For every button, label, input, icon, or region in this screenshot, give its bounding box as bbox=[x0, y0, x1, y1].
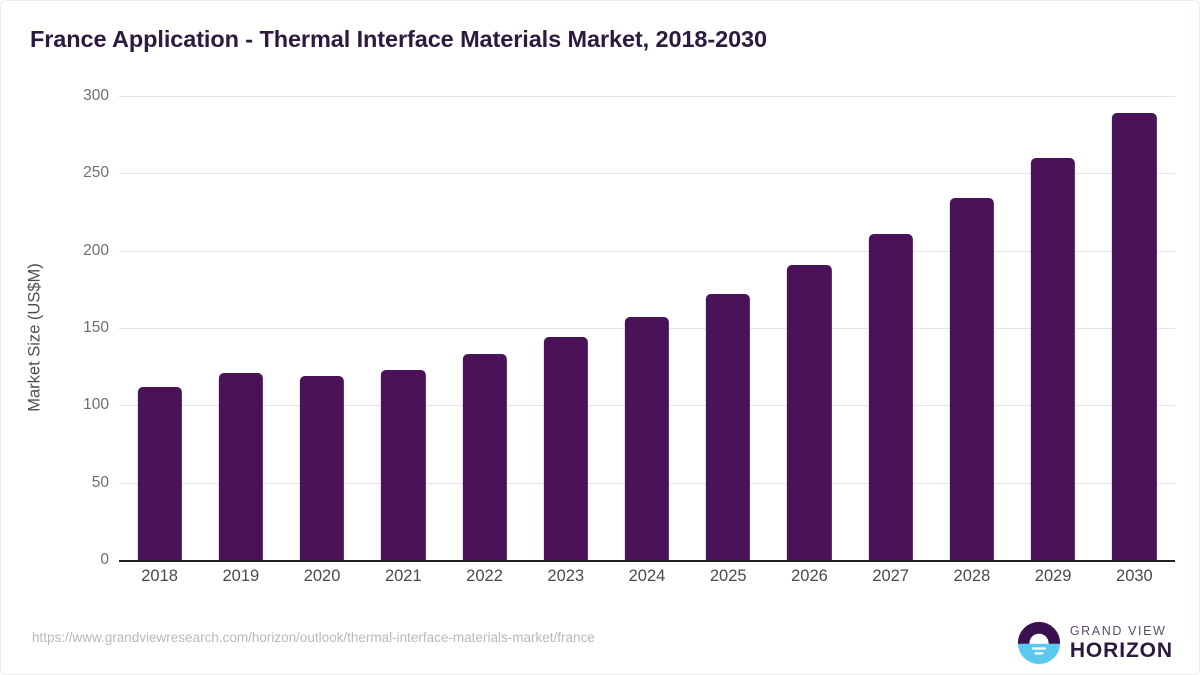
bar-slot bbox=[119, 96, 200, 560]
bar[interactable] bbox=[1031, 158, 1075, 560]
page-title: France Application - Thermal Interface M… bbox=[30, 26, 767, 53]
y-tick-label: 100 bbox=[83, 396, 109, 414]
chart-page: France Application - Thermal Interface M… bbox=[0, 0, 1200, 675]
bar[interactable] bbox=[544, 337, 588, 560]
bar-slot bbox=[525, 96, 606, 560]
axis-baseline bbox=[119, 560, 1175, 562]
bar[interactable] bbox=[787, 265, 831, 560]
y-tick-label: 150 bbox=[83, 319, 109, 337]
y-axis-title: Market Size (US$M) bbox=[26, 138, 45, 538]
bar-slot bbox=[1013, 96, 1094, 560]
x-tick-label: 2027 bbox=[850, 567, 931, 586]
x-tick-label: 2026 bbox=[769, 567, 850, 586]
bar-slot bbox=[1094, 96, 1175, 560]
x-tick-label: 2024 bbox=[606, 567, 687, 586]
x-tick-label: 2025 bbox=[688, 567, 769, 586]
y-tick-label: 200 bbox=[83, 242, 109, 260]
bar[interactable] bbox=[706, 294, 750, 560]
bar-slot bbox=[606, 96, 687, 560]
x-tick-label: 2018 bbox=[119, 567, 200, 586]
bar[interactable] bbox=[869, 234, 913, 560]
x-tick-label: 2028 bbox=[931, 567, 1012, 586]
y-tick-label: 50 bbox=[92, 474, 109, 492]
y-tick-label: 0 bbox=[100, 551, 109, 569]
bar[interactable] bbox=[300, 376, 344, 560]
brand-name-line2: HORIZON bbox=[1070, 640, 1173, 661]
brand-name-line1: GRAND VIEW bbox=[1070, 625, 1173, 638]
bar-slot bbox=[850, 96, 931, 560]
bar[interactable] bbox=[381, 370, 425, 560]
bar-slot bbox=[688, 96, 769, 560]
x-tick-label: 2023 bbox=[525, 567, 606, 586]
x-axis-tick-labels: 2018201920202021202220232024202520262027… bbox=[119, 567, 1175, 595]
bar-slot bbox=[769, 96, 850, 560]
bar-slot bbox=[931, 96, 1012, 560]
source-url[interactable]: https://www.grandviewresearch.com/horizo… bbox=[32, 630, 595, 645]
x-tick-label: 2030 bbox=[1094, 567, 1175, 586]
bar[interactable] bbox=[219, 373, 263, 560]
y-tick-label: 250 bbox=[83, 164, 109, 182]
bar-slot bbox=[444, 96, 525, 560]
bar[interactable] bbox=[137, 387, 181, 560]
bar[interactable] bbox=[1112, 113, 1156, 560]
bar-slot bbox=[281, 96, 362, 560]
x-tick-label: 2029 bbox=[1013, 567, 1094, 586]
x-tick-label: 2019 bbox=[200, 567, 281, 586]
bar-slot bbox=[363, 96, 444, 560]
x-tick-label: 2021 bbox=[363, 567, 444, 586]
bar[interactable] bbox=[625, 317, 669, 560]
y-axis-tick-labels: 050100150200250300 bbox=[61, 96, 109, 560]
horizon-sun-circle-icon bbox=[1017, 621, 1061, 665]
bar-series bbox=[119, 96, 1175, 560]
bar[interactable] bbox=[950, 198, 994, 560]
x-tick-label: 2020 bbox=[281, 567, 362, 586]
bar-slot bbox=[200, 96, 281, 560]
brand-logo: GRAND VIEW HORIZON bbox=[1017, 621, 1173, 665]
brand-text: GRAND VIEW HORIZON bbox=[1070, 625, 1173, 662]
y-tick-label: 300 bbox=[83, 87, 109, 105]
x-tick-label: 2022 bbox=[444, 567, 525, 586]
bar[interactable] bbox=[462, 354, 506, 560]
